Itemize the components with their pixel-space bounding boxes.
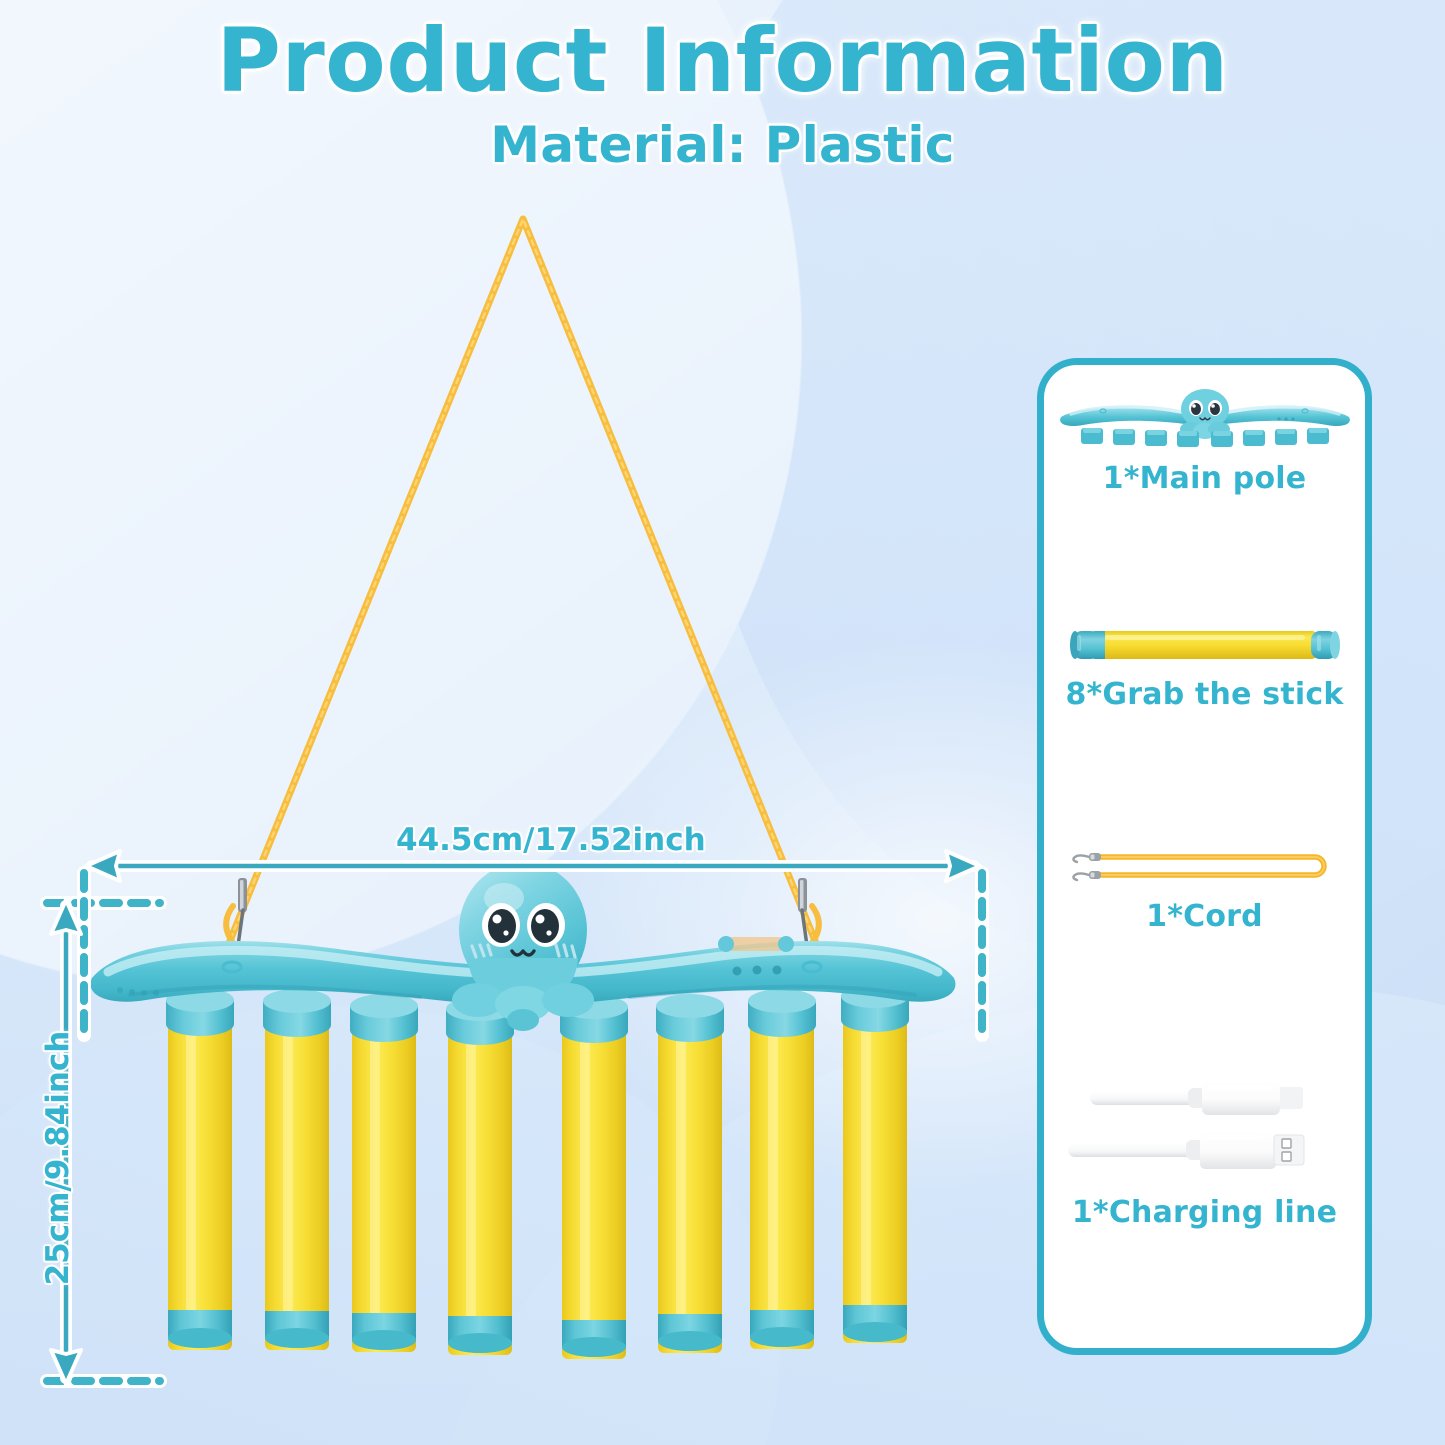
grab-sticks-group [166, 984, 909, 1359]
grab-stick [166, 988, 234, 1350]
height-dimension-label: 25cm/9.84inch [40, 1008, 76, 1308]
usb-a-plug [1068, 1131, 1304, 1169]
width-dimension-label: 44.5cm/17.52inch [396, 822, 706, 858]
grab-stick [263, 989, 331, 1350]
part-label: 1*Charging line [1044, 1195, 1365, 1230]
micro-usb-plug [1090, 1081, 1303, 1115]
part-label: 1*Main pole [1044, 461, 1365, 496]
charging-cable-icon [1044, 1075, 1365, 1185]
grab-stick [350, 994, 418, 1352]
part-label: 8*Grab the stick [1044, 677, 1365, 712]
main-pole-icon [1044, 387, 1365, 451]
part-list-item: 8*Grab the stick [1044, 623, 1365, 712]
parts-list-card: 1*Main pole [1037, 358, 1372, 1355]
grab-stick [841, 984, 909, 1343]
part-list-item: 1*Charging line [1044, 1075, 1365, 1230]
part-list-item: 1*Cord [1044, 843, 1365, 934]
infographic-canvas: Product Information Material: Plastic [0, 0, 1445, 1445]
grab-stick [446, 997, 514, 1355]
part-list-item: 1*Main pole [1044, 387, 1365, 496]
octopus-face-icon [452, 862, 594, 1031]
part-label: 1*Cord [1044, 899, 1365, 934]
cord-loop-icon [1044, 843, 1365, 889]
grab-stick [656, 994, 724, 1353]
grab-stick-icon [1044, 623, 1365, 667]
grab-stick [560, 995, 628, 1359]
hanging-cord [223, 219, 822, 973]
grab-stick [748, 989, 816, 1349]
